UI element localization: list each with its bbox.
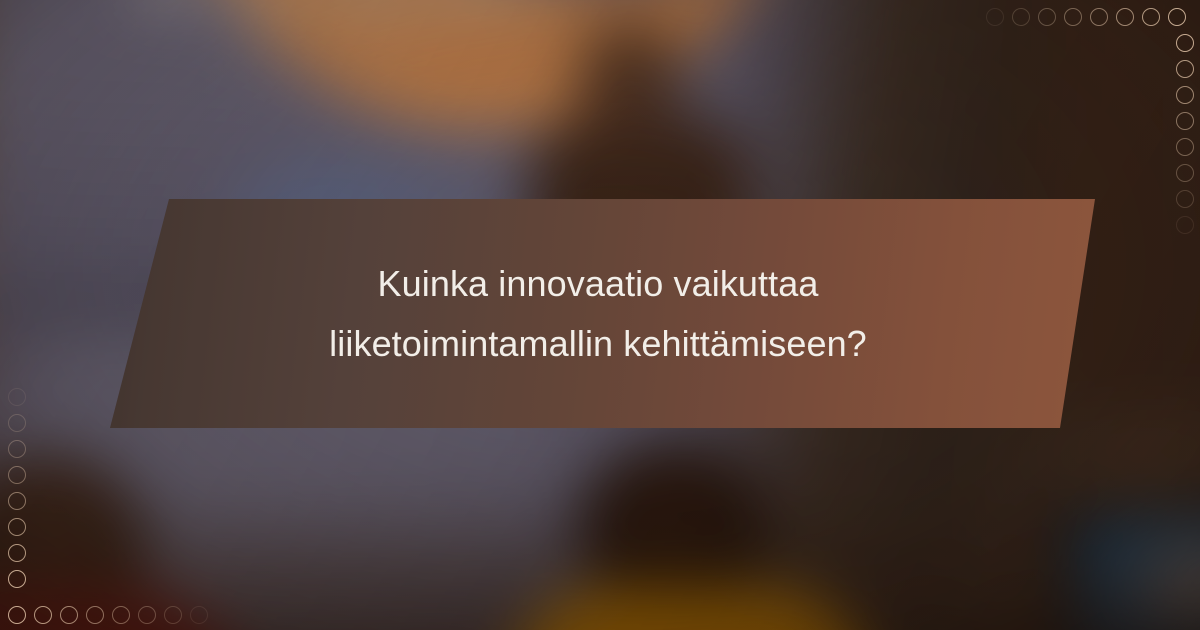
headline-line-1: Kuinka innovaatio vaikuttaa <box>378 260 819 308</box>
decor-dot <box>1168 8 1186 26</box>
decor-dot <box>8 440 26 458</box>
decor-dots-bottom <box>8 606 216 624</box>
decor-dot <box>8 492 26 510</box>
decor-dot <box>8 414 26 432</box>
decor-dot <box>8 606 26 624</box>
decor-dot <box>1176 216 1194 234</box>
decor-dot <box>1176 86 1194 104</box>
decor-dot <box>112 606 130 624</box>
decor-dot <box>8 544 26 562</box>
decor-dot <box>1064 8 1082 26</box>
decor-dot <box>1176 60 1194 78</box>
headline-line-2: liiketoimintamallin kehittämiseen? <box>329 320 867 368</box>
decor-dot <box>1176 138 1194 156</box>
share-card-canvas: Kuinka innovaatio vaikuttaa liiketoimint… <box>0 0 1200 630</box>
decor-dot <box>1012 8 1030 26</box>
decor-dots-left <box>8 388 26 596</box>
decor-dot <box>86 606 104 624</box>
decor-dot <box>1176 190 1194 208</box>
decor-dot <box>60 606 78 624</box>
decor-dot <box>1142 8 1160 26</box>
decor-dots-top-right <box>986 8 1194 26</box>
decor-dot <box>1176 34 1194 52</box>
decor-dot <box>190 606 208 624</box>
headline-card: Kuinka innovaatio vaikuttaa liiketoimint… <box>98 199 1098 428</box>
decor-dot <box>8 466 26 484</box>
decor-dots-right <box>1176 34 1194 242</box>
decor-dot <box>8 388 26 406</box>
decor-dot <box>34 606 52 624</box>
decor-dot <box>1176 112 1194 130</box>
decor-dot <box>8 570 26 588</box>
decor-dot <box>986 8 1004 26</box>
decor-dot <box>1038 8 1056 26</box>
decor-dot <box>164 606 182 624</box>
decor-dot <box>1176 164 1194 182</box>
decor-dot <box>1116 8 1134 26</box>
decor-dot <box>1090 8 1108 26</box>
decor-dot <box>138 606 156 624</box>
decor-dot <box>8 518 26 536</box>
headline-card-inner: Kuinka innovaatio vaikuttaa liiketoimint… <box>98 199 1098 428</box>
